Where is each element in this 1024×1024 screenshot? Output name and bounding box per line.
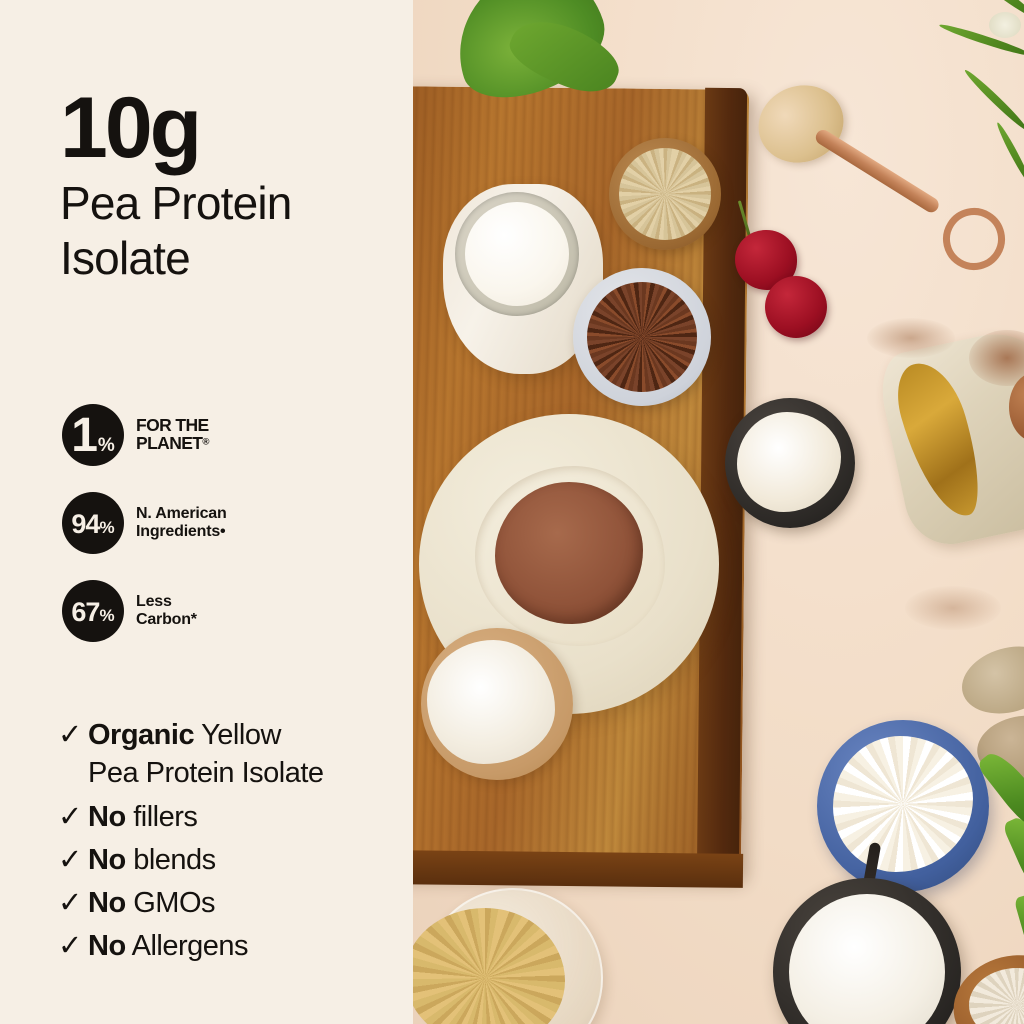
page-title: 10g: [60, 86, 405, 170]
product-name-line-1: Pea Protein: [60, 176, 405, 230]
info-panel: 10g Pea Protein Isolate 1 % FOR THE PLAN…: [0, 0, 413, 1024]
list-item-text: No GMOs: [88, 884, 215, 922]
cutting-board-bottom-edge: [413, 850, 743, 888]
badge-label-line-2: Carbon*: [136, 611, 197, 629]
list-item-strong: No: [88, 844, 126, 876]
list-item-rest: fillers: [126, 801, 198, 833]
list-item-rest: GMOs: [126, 887, 215, 919]
check-icon: ✓: [58, 841, 88, 879]
percent-icon: %: [99, 519, 114, 536]
badge-circle-icon: 67 %: [62, 580, 124, 642]
list-item-strong: No: [88, 887, 126, 919]
product-name: Pea Protein Isolate: [60, 176, 405, 285]
badge-number: 94: [71, 511, 99, 538]
list-item-no-blends: ✓ No blends: [58, 841, 413, 879]
list-item-organic-yellow-pea-protein-isolate: ✓ Organic Yellow Pea Protein Isolate: [58, 716, 413, 793]
list-item-strong: No: [88, 801, 126, 833]
badge-label: FOR THE PLANET®: [136, 417, 209, 453]
list-item-text: No blends: [88, 841, 216, 879]
badge-number: 1: [71, 412, 97, 460]
badge-label-line-2: PLANET®: [136, 435, 209, 453]
scattered-cocoa-powder: [867, 318, 955, 358]
sunflower-seeds: [619, 148, 711, 240]
badge-circle-icon: 94 %: [62, 492, 124, 554]
cacao-nibs: [587, 282, 697, 392]
badge-label-line-1: Less: [136, 593, 197, 611]
list-item-rest: Yellow: [194, 719, 281, 751]
list-item-no-gmos: ✓ No GMOs: [58, 884, 413, 922]
list-item-text: No fillers: [88, 798, 197, 836]
list-item-rest: blends: [126, 844, 216, 876]
percent-icon: %: [99, 607, 114, 624]
ingredient-flatlay-photo: [413, 0, 1024, 1024]
cocoa-protein-powder: [495, 482, 643, 624]
badge-north-american-ingredients: 94 % N. American Ingredients•: [62, 492, 402, 554]
badge-label-line-2: Ingredients•: [136, 523, 227, 541]
list-item-no-fillers: ✓ No fillers: [58, 798, 413, 836]
list-item-rest: Allergens: [126, 930, 248, 962]
badge-label: N. American Ingredients•: [136, 505, 227, 541]
list-item-text: No Allergens: [88, 927, 248, 965]
feature-checklist: ✓ Organic Yellow Pea Protein Isolate ✓ N…: [58, 716, 413, 971]
badge-circle-icon: 1 %: [62, 404, 124, 466]
list-item-no-allergens: ✓ No Allergens: [58, 927, 413, 965]
check-icon: ✓: [58, 716, 88, 754]
check-icon: ✓: [58, 927, 88, 965]
percent-icon: %: [98, 436, 115, 455]
badge-list: 1 % FOR THE PLANET® 94 % N. Amer: [62, 404, 402, 668]
list-item-strong: Organic: [88, 719, 194, 751]
white-protein-powder: [427, 640, 555, 764]
badge-number: 67: [71, 599, 99, 626]
headline-block: 10g Pea Protein Isolate: [60, 86, 405, 285]
check-icon: ✓: [58, 798, 88, 836]
badge-less-carbon: 67 % Less Carbon*: [62, 580, 402, 642]
product-name-line-2: Isolate: [60, 231, 405, 285]
milk-surface: [465, 202, 569, 306]
cherry: [765, 276, 827, 338]
scattered-cocoa-powder: [905, 586, 1001, 630]
check-icon: ✓: [58, 884, 88, 922]
list-item-strong: No: [88, 930, 126, 962]
product-marketing-image: 10g Pea Protein Isolate 1 % FOR THE PLAN…: [0, 0, 1024, 1024]
list-item-text: Organic Yellow Pea Protein Isolate: [88, 716, 324, 793]
badge-label-line-1: N. American: [136, 505, 227, 523]
registered-trademark-icon: ®: [202, 437, 208, 448]
herb-flower: [989, 12, 1021, 38]
badge-one-percent-for-the-planet: 1 % FOR THE PLANET®: [62, 404, 402, 466]
badge-label: Less Carbon*: [136, 593, 197, 629]
list-item-line-2: Pea Protein Isolate: [88, 754, 324, 792]
